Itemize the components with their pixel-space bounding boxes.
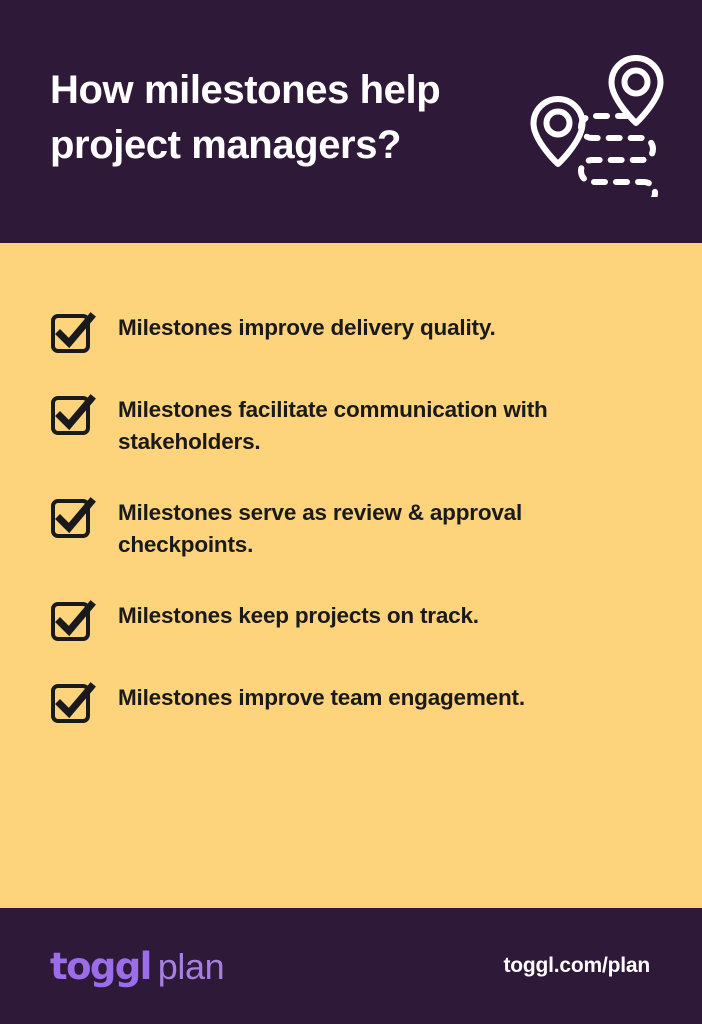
checklist: Milestones improve delivery quality. Mil… [0,311,702,725]
infographic-poster: How milestones help project managers? [0,0,702,1024]
list-item-label: Milestones improve team engagement. [118,681,658,714]
checklist-section: Milestones improve delivery quality. Mil… [0,243,702,908]
list-item[interactable]: Milestones improve delivery quality. [50,311,678,355]
dashed-route-path [566,116,655,197]
list-item[interactable]: Milestones keep projects on track. [50,599,678,643]
checkbox-checked-icon[interactable] [50,683,94,725]
header-banner: How milestones help project managers? [0,0,702,243]
list-item-label: Milestones serve as review & approval ch… [118,496,658,561]
logo-plan-wordmark: plan [158,949,224,985]
checkbox-checked-icon[interactable] [50,498,94,540]
logo-toggl-wordmark: toggl [50,948,151,985]
map-route-pins-icon [526,52,666,197]
footer-url[interactable]: toggl.com/plan [503,954,650,978]
page-title-line-2: project managers? [50,118,520,173]
checkbox-checked-icon[interactable] [50,601,94,643]
list-item-label: Milestones keep projects on track. [118,599,658,632]
map-pin-lower-icon [534,99,583,164]
page-title: How milestones help project managers? [50,63,520,173]
list-item[interactable]: Milestones facilitate communication with… [50,393,678,458]
list-item[interactable]: Milestones improve team engagement. [50,681,678,725]
list-item-label: Milestones improve delivery quality. [118,311,658,344]
list-item[interactable]: Milestones serve as review & approval ch… [50,496,678,561]
page-title-line-1: How milestones help [50,63,520,118]
toggl-plan-logo[interactable]: toggl plan [50,948,224,985]
checkbox-checked-icon[interactable] [50,313,94,355]
footer-bar: toggl plan toggl.com/plan [0,908,702,1024]
list-item-label: Milestones facilitate communication with… [118,393,658,458]
checkbox-checked-icon[interactable] [50,395,94,437]
